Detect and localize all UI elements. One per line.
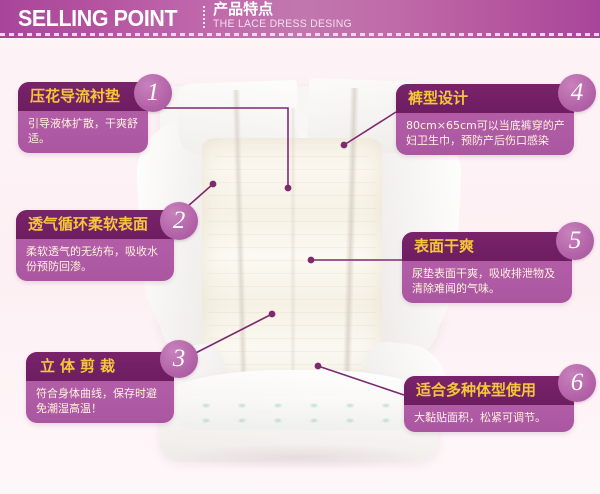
- callout-card-4-body: 裤型设计 80cm×65cm可以当底裤穿的产妇卫生巾，预防产后伤口感染: [396, 84, 574, 155]
- callout-card-6-body: 适合多种体型使用 大黏贴面积，松紧可调节。: [404, 376, 574, 432]
- product-fold-center: [290, 108, 296, 388]
- header-banner: SELLING POINT 产品特点 THE LACE DRESS DESING: [0, 0, 600, 38]
- callout-card-5-body: 表面干爽 尿垫表面干爽，吸收排泄物及清除难闻的气味。: [402, 232, 572, 303]
- callout-card-1-body: 压花导流衬垫 引导液体扩散，干爽舒适。: [18, 82, 148, 153]
- callout-number-badge-1: 1: [134, 74, 172, 112]
- callout-card-4[interactable]: 裤型设计 80cm×65cm可以当底裤穿的产妇卫生巾，预防产后伤口感染 4: [396, 84, 574, 155]
- banner-title-chinese: 产品特点: [213, 1, 359, 18]
- callout-card-6-description: 大黏贴面积，松紧可调节。: [404, 405, 574, 432]
- callout-card-5-description: 尿垫表面干爽，吸收排泄物及清除难闻的气味。: [402, 261, 572, 303]
- callout-number-badge-2: 2: [160, 202, 198, 240]
- callout-card-6-title: 适合多种体型使用: [404, 376, 574, 405]
- callout-card-1-description: 引导液体扩散，干爽舒适。: [18, 111, 148, 153]
- callout-card-5[interactable]: 表面干爽 尿垫表面干爽，吸收排泄物及清除难闻的气味。 5: [402, 232, 572, 303]
- banner-title-group: 产品特点 THE LACE DRESS DESING: [213, 0, 359, 31]
- callout-card-2[interactable]: 透气循环柔软表面 柔软透气的无纺布，吸收水份预防回渗。 2: [16, 210, 174, 281]
- callout-card-2-description: 柔软透气的无纺布，吸收水份预防回渗。: [16, 239, 174, 281]
- callout-card-6[interactable]: 适合多种体型使用 大黏贴面积，松紧可调节。 6: [404, 376, 574, 432]
- callout-card-4-title: 裤型设计: [396, 84, 574, 113]
- header-banner-content: SELLING POINT 产品特点 THE LACE DRESS DESING: [18, 0, 359, 34]
- callout-number-badge-5: 5: [556, 222, 594, 260]
- banner-dotted-rule: [0, 33, 600, 36]
- callout-card-2-title: 透气循环柔软表面: [16, 210, 174, 239]
- callout-number-badge-4: 4: [558, 74, 596, 112]
- banner-subtitle-english: THE LACE DRESS DESING: [213, 18, 352, 31]
- selling-point-infographic: SELLING POINT 产品特点 THE LACE DRESS DESING: [0, 0, 600, 494]
- banner-title-english: SELLING POINT: [18, 0, 177, 33]
- callout-card-2-body: 透气循环柔软表面 柔软透气的无纺布，吸收水份预防回渗。: [16, 210, 174, 281]
- callout-number-badge-3: 3: [160, 340, 198, 378]
- callout-card-3-title: 立体剪裁: [26, 352, 174, 381]
- callout-card-3[interactable]: 立体剪裁 符合身体曲线，保存时避免潮湿高温！ 3: [26, 352, 174, 423]
- product-front-pattern: [188, 398, 410, 428]
- callout-card-1-title: 压花导流衬垫: [18, 82, 148, 111]
- callout-number-badge-6: 6: [558, 364, 596, 402]
- callout-card-1[interactable]: 压花导流衬垫 引导液体扩散，干爽舒适。 1: [18, 82, 148, 153]
- banner-divider-icon: [203, 6, 205, 28]
- product-drop-shadow: [174, 444, 424, 470]
- callout-card-5-title: 表面干爽: [402, 232, 572, 261]
- callout-card-4-description: 80cm×65cm可以当底裤穿的产妇卫生巾，预防产后伤口感染: [396, 113, 574, 155]
- callout-card-3-body: 立体剪裁 符合身体曲线，保存时避免潮湿高温！: [26, 352, 174, 423]
- callout-card-3-description: 符合身体曲线，保存时避免潮湿高温！: [26, 381, 174, 423]
